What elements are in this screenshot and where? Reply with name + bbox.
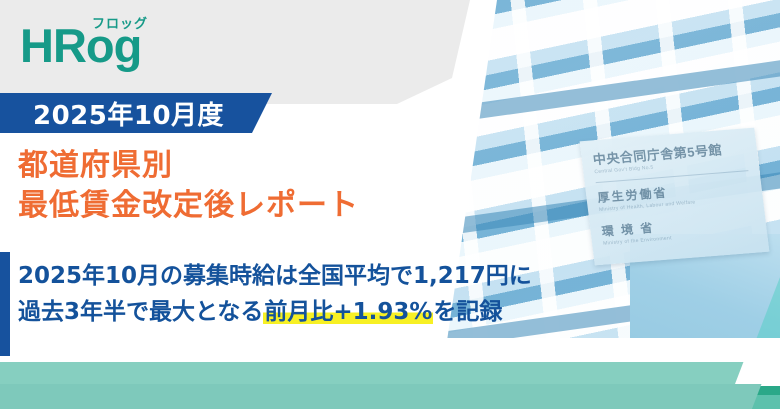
page-title-line-1: 都道府県別 — [18, 146, 359, 186]
signboard-row-mhlw: 厚生労働省 Ministry of Health, Labour and Wel… — [597, 177, 753, 213]
summary-highlight: 前月比+1.93% — [263, 299, 433, 325]
date-banner-label: 2025年10月度 — [33, 95, 224, 132]
bottom-white-notch — [331, 338, 780, 386]
page-title: 都道府県別 最低賃金改定後レポート — [18, 146, 359, 226]
date-banner: 2025年10月度 — [0, 93, 272, 133]
summary-line-2-prefix: 過去3年半で最大となる — [18, 299, 263, 325]
body-accent-rule — [0, 252, 10, 356]
signboard-row-moe: 環 境 省 Ministry of the Environment — [601, 211, 757, 247]
ministry-signboard: 中央合同庁舎第5号館 Central Gov't Bldg No.5 厚生労働省… — [580, 128, 770, 266]
report-cover-banner: 中央合同庁舎第5号館 Central Gov't Bldg No.5 厚生労働省… — [0, 0, 780, 409]
page-title-line-2: 最低賃金改定後レポート — [18, 186, 359, 226]
summary-line-2-suffix: を記録 — [433, 299, 502, 325]
summary-text: 2025年10月の募集時給は全国平均で1,217円に 過去3年半で最大となる前月… — [18, 258, 532, 330]
signboard-row-building: 中央合同庁舎第5号館 Central Gov't Bldg No.5 — [592, 137, 748, 175]
logo-wordmark: HRog — [20, 22, 141, 69]
summary-line-2: 過去3年半で最大となる前月比+1.93%を記録 — [18, 294, 532, 330]
summary-line-1: 2025年10月の募集時給は全国平均で1,217円に — [18, 258, 532, 294]
hrog-logo[interactable]: フロッグ HRog — [20, 12, 210, 72]
